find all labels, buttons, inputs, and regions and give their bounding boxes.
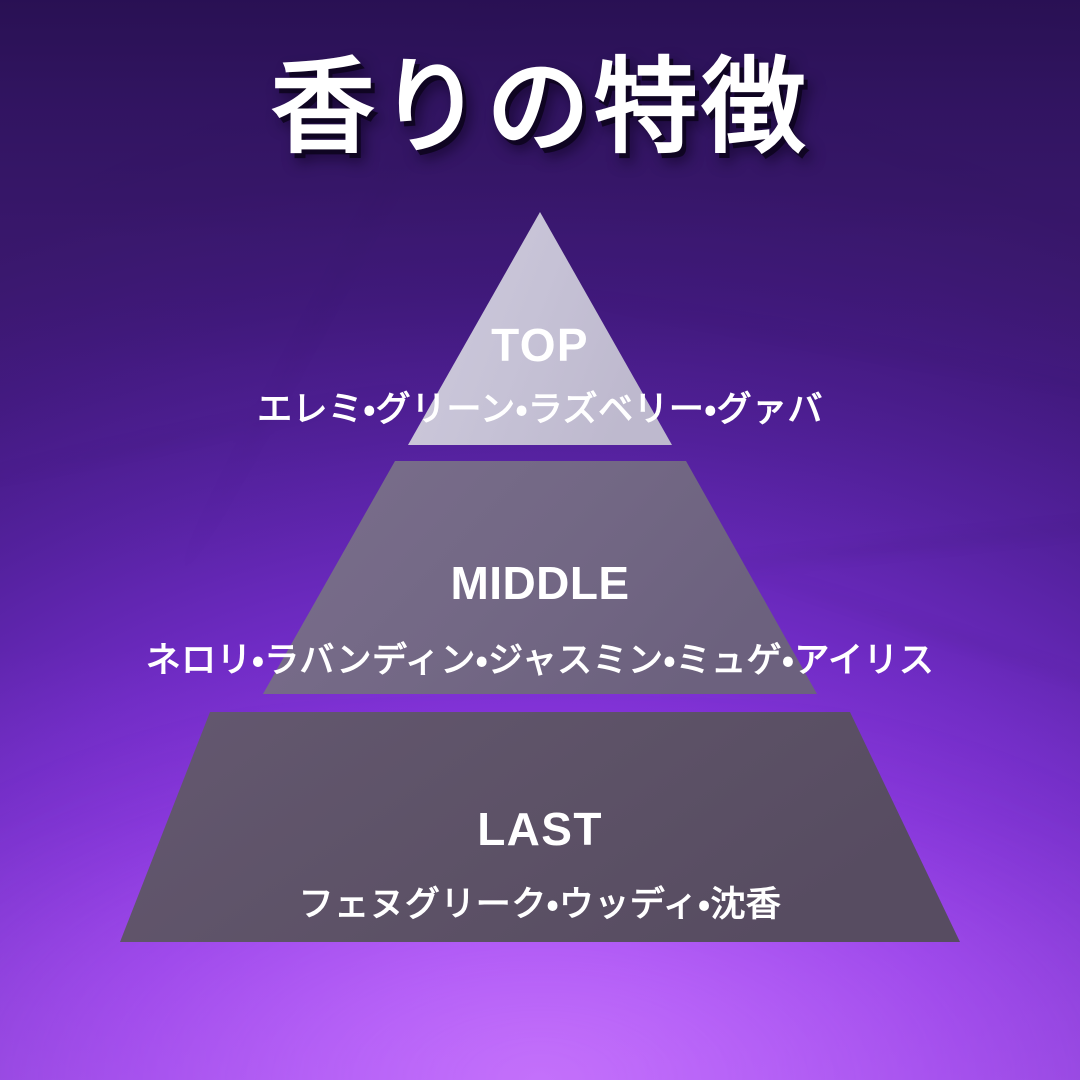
tier-label-top: TOP [0,318,1080,372]
tier-label-middle: MIDDLE [0,556,1080,610]
tier-notes-top: エレミ・グリーン・ラズベリー・グァバ [0,381,1080,432]
tier-notes-middle: ネロリ・ラバンディン・ジャスミン・ミュゲ・アイリス [0,632,1080,683]
scent-pyramid-infographic: 香りの特徴 [0,0,1080,1080]
tier-label-last: LAST [0,802,1080,856]
tier-notes-last: フェヌグリーク・ウッディ・沈香 [0,876,1080,927]
